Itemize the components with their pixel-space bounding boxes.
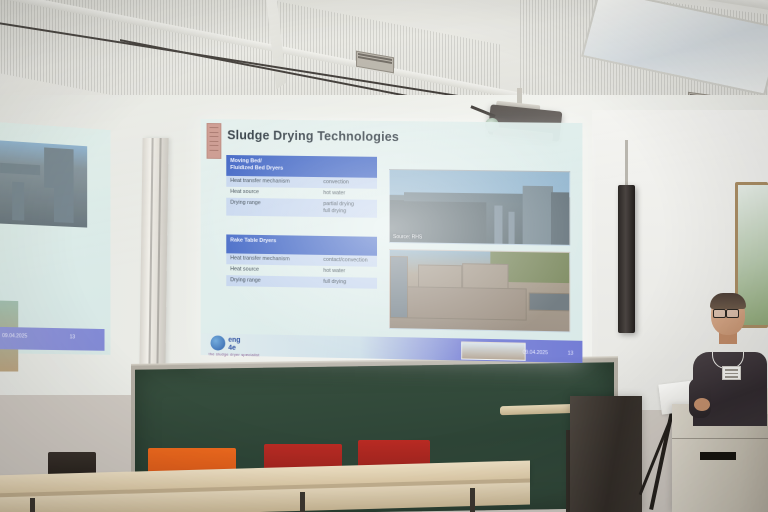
slide-logo-tagline: the sludge dryer specialist (209, 351, 260, 357)
slide-footer-date: 09.04.2025 (523, 350, 548, 357)
secondary-projection: 09.04.2025 13 (0, 122, 110, 355)
table-1-row-3-value-line-2: full drying (323, 208, 346, 214)
table-2-header: Rake Table Dryers (226, 234, 377, 255)
slide-photo-drying-plant: Source: RHS (389, 169, 570, 246)
slide-logo: eng 4e (228, 337, 240, 352)
table-row: Drying range full drying (226, 275, 377, 289)
table-1-header: Moving Bed/ Fluidized Bed Dryers (226, 155, 377, 177)
table-1-row-1-value: convection (319, 177, 377, 189)
slide-footer-thumbnail (461, 341, 526, 360)
slide-footer-page: 13 (568, 351, 574, 357)
speaker-mount-rod (625, 140, 628, 188)
projected-slide: Sludge Drying Technologies Moving Bed/ F… (201, 119, 583, 363)
column-speaker (618, 185, 635, 333)
table-leg-1 (30, 498, 35, 512)
slide-title: Sludge Drying Technologies (227, 128, 399, 144)
table-row: Drying range partial drying full drying (226, 197, 377, 217)
table-1-row-3-label: Drying range (226, 197, 319, 216)
secondary-projection-date: 09.04.2025 (2, 333, 27, 340)
presenter-hand (694, 398, 710, 411)
slide-logo-primary: eng (228, 337, 240, 344)
presenter-name-badge (722, 366, 741, 380)
secondary-projection-page: 13 (70, 334, 75, 340)
lecture-hall-photo: 09.04.2025 13 Sludge Drying Technologies… (0, 0, 768, 512)
table-1-header-line-1: Moving Bed/ (230, 158, 262, 164)
glasses-icon-left (713, 309, 726, 318)
table-1-row-3-value: partial drying full drying (319, 199, 377, 218)
table-leg-3 (470, 488, 475, 512)
secondary-projection-footer: 09.04.2025 13 (0, 327, 105, 351)
presenter-hair (710, 293, 746, 309)
glasses-icon-right (726, 309, 739, 318)
table-moving-bed-dryers: Moving Bed/ Fluidized Bed Dryers Heat tr… (226, 155, 377, 217)
secondary-projection-photo (0, 140, 87, 228)
slide-corner-tab-icon (207, 123, 222, 159)
table-leg-2 (300, 492, 305, 512)
table-rake-table-dryers: Rake Table Dryers Heat transfer mechanis… (226, 234, 377, 288)
slide-logo-secondary: 4e (228, 344, 236, 351)
slide-photo-caption: Source: RHS (393, 234, 422, 240)
table-2-row-3-value: full drying (319, 277, 377, 289)
slide-photo-rake-dryer (389, 249, 570, 333)
table-1-row-2-value: hot water (319, 188, 377, 200)
wall-pillar (139, 138, 168, 370)
globe-logo-icon (211, 335, 226, 350)
table-2-row-3-label: Drying range (226, 275, 319, 288)
cabinet-handle-slot[interactable] (700, 452, 736, 460)
table-1-header-line-2: Fluidized Bed Dryers (230, 165, 283, 172)
lectern (570, 396, 642, 512)
table-1-row-3-value-line-1: partial drying (323, 201, 354, 207)
